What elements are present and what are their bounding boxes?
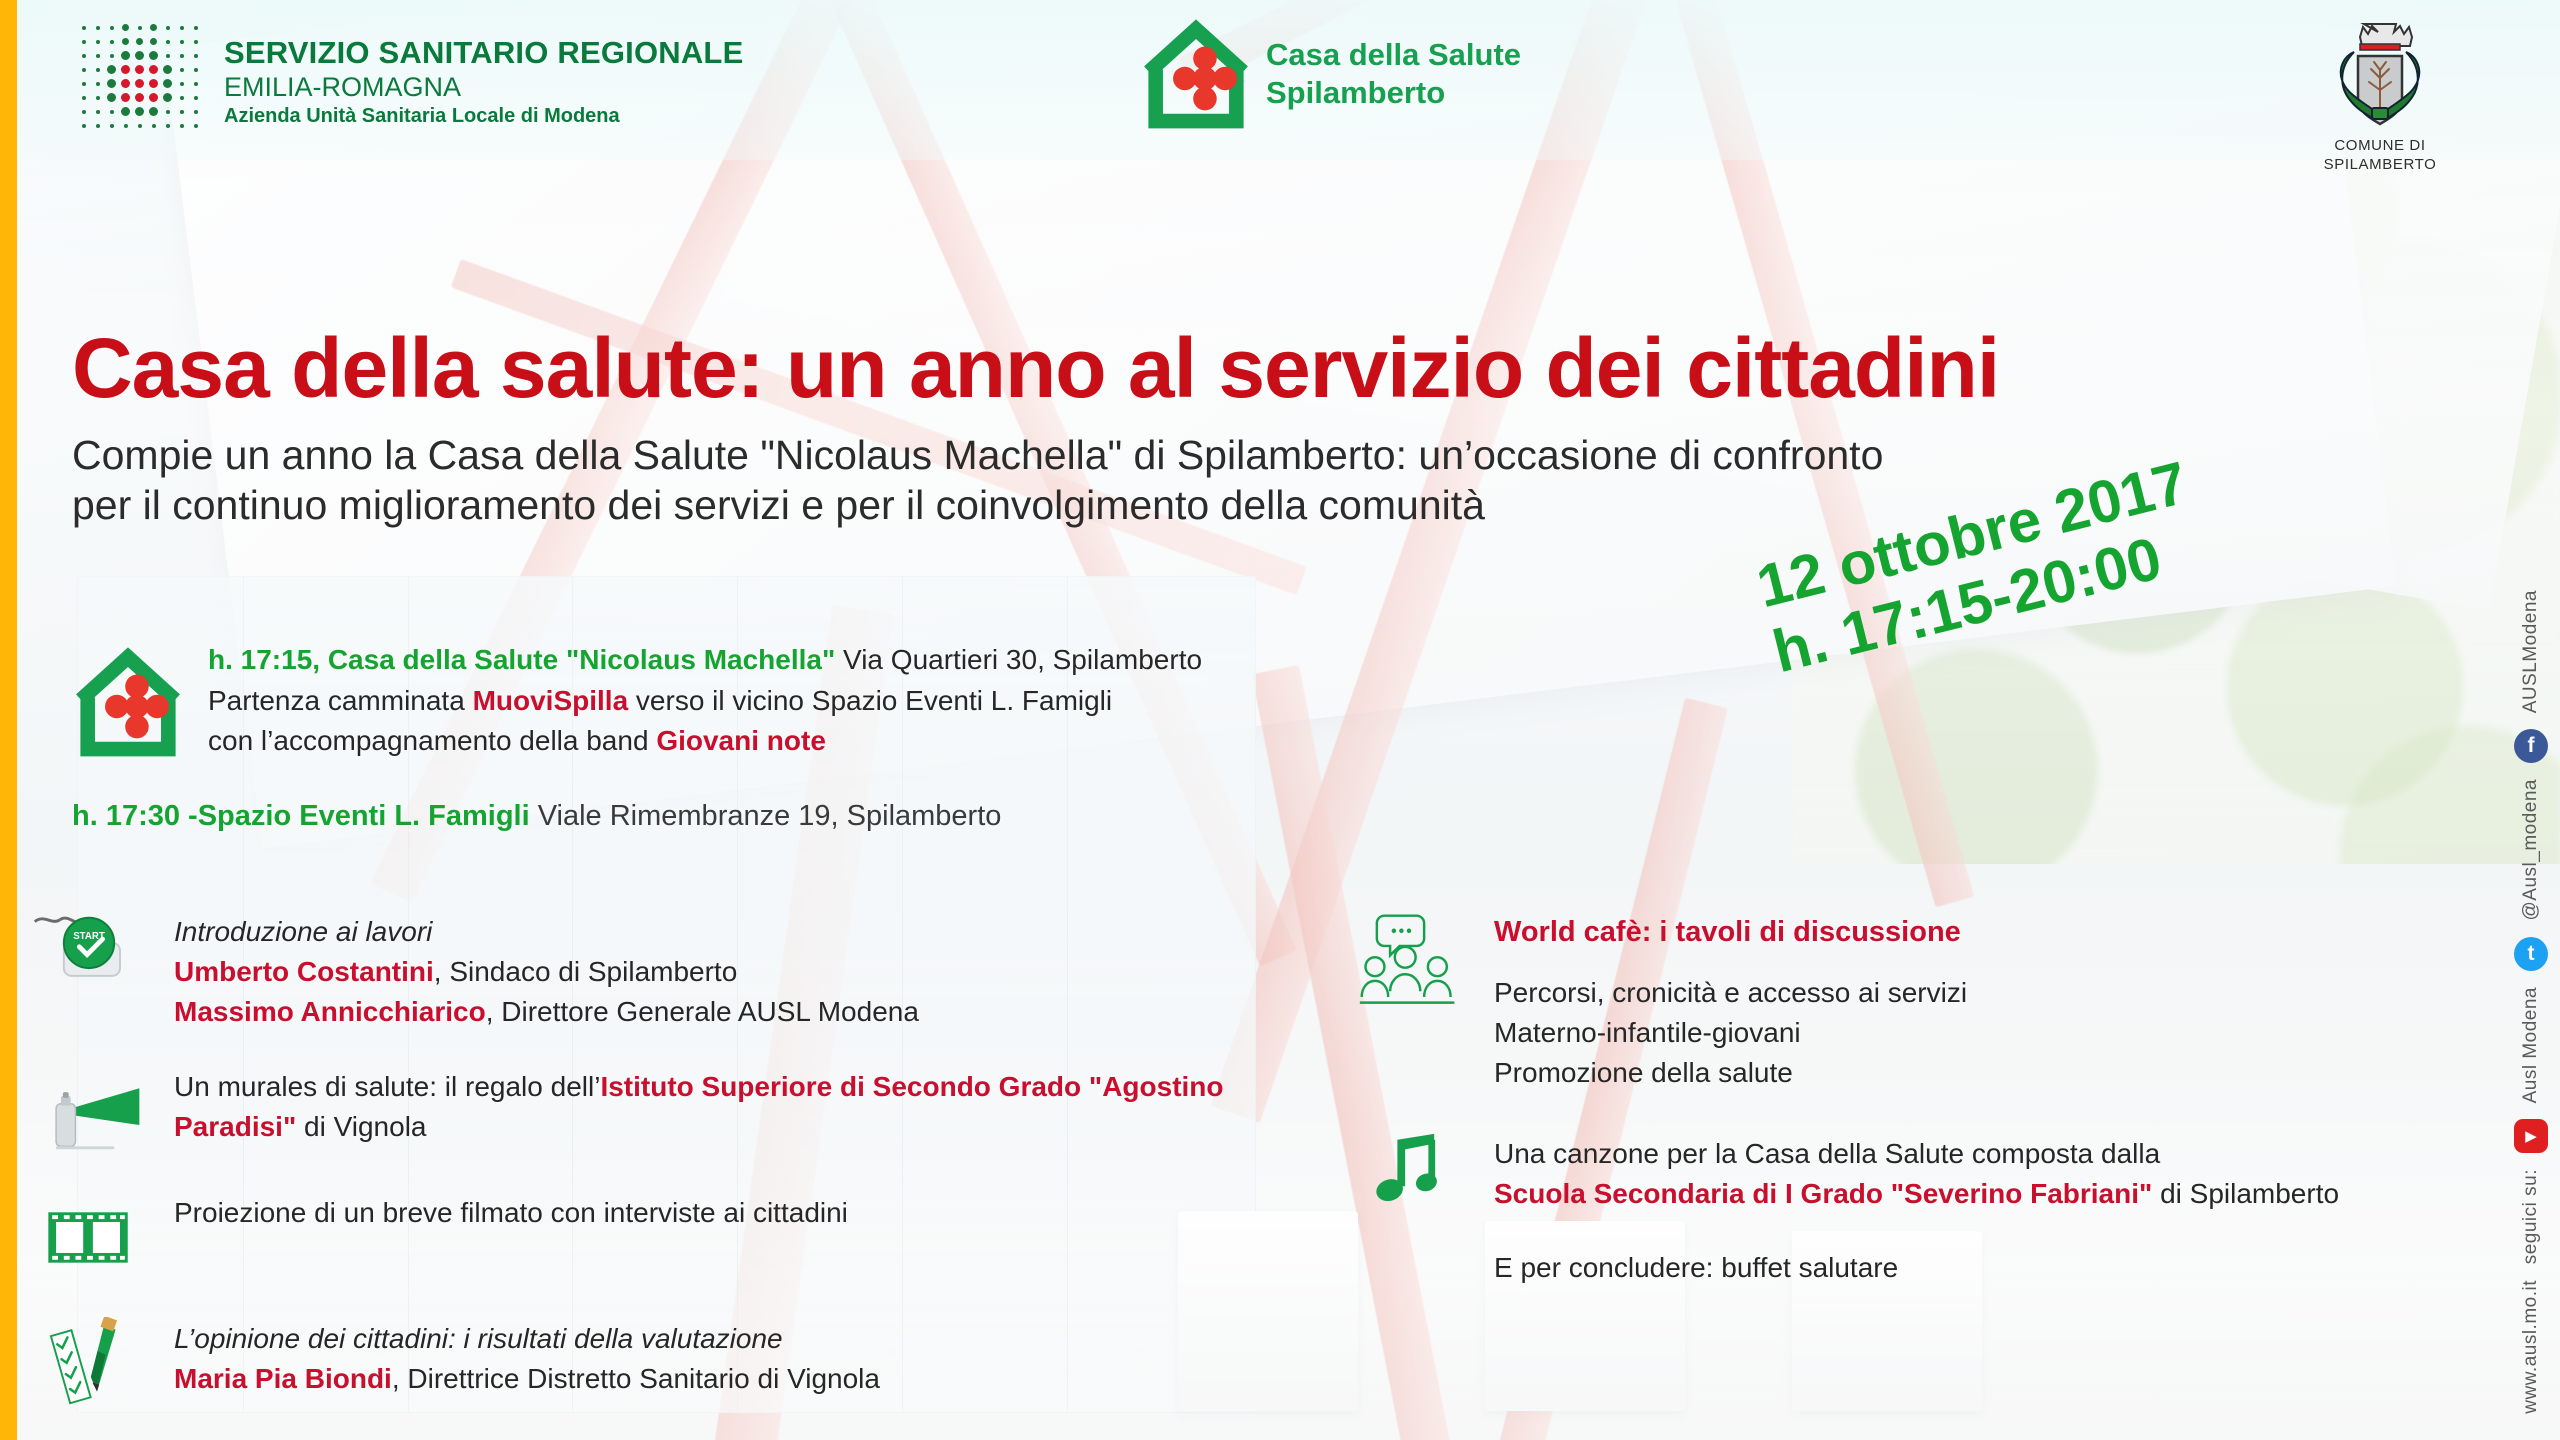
schedule-1715-address: Via Quartieri 30, Spilamberto xyxy=(835,644,1202,675)
canzone-row-2: Scuola Secondaria di I Grado "Severino F… xyxy=(1494,1174,2339,1214)
subtitle-line-1: Compie un anno la Casa della Salute "Nic… xyxy=(72,430,2252,480)
valutazione-speaker-name: Maria Pia Biondi xyxy=(174,1363,392,1394)
twitter-icon[interactable]: t xyxy=(2514,937,2548,971)
discussion-group-icon xyxy=(1350,910,1468,1002)
band-text-a: con l’accompagnamento della band xyxy=(208,725,656,756)
canzone-text-b: di Spilamberto xyxy=(2152,1178,2339,1209)
youtube-icon[interactable]: ▶ xyxy=(2514,1119,2548,1153)
murales-text-b: di Vignola xyxy=(296,1111,426,1142)
schedule-1715-venue: h. 17:15, Casa della Salute "Nicolaus Ma… xyxy=(208,644,835,675)
muovispilla-label: MuoviSpilla xyxy=(473,685,629,716)
green-house-red-dots-icon xyxy=(72,646,184,758)
facebook-icon[interactable]: f xyxy=(2514,729,2548,763)
band-name: Giovani note xyxy=(656,725,826,756)
website-url[interactable]: www.ausl.mo.it xyxy=(2520,1280,2542,1414)
comune-name-line2: SPILAMBERTO xyxy=(2280,156,2480,175)
schedule-1730-venue: h. 17:30 -Spazio Eventi L. Famigli xyxy=(72,800,530,832)
valutazione-label: L’opinione dei cittadini: i risultati de… xyxy=(174,1319,880,1359)
closing-text: E per concludere: buffet salutare xyxy=(1494,1248,2339,1288)
ausl-logo-line3: Azienda Unità Sanitaria Locale di Modena xyxy=(224,103,743,129)
coat-of-arms-icon xyxy=(2320,8,2440,128)
comune-name-line1: COMUNE DI xyxy=(2280,137,2480,156)
murales-text-a: Un murales di salute: il regalo dell’ xyxy=(174,1071,600,1102)
walk-text-a: Partenza camminata xyxy=(208,685,473,716)
youtube-label[interactable]: Ausl Modena xyxy=(2520,987,2542,1103)
program-item-world-cafe: World cafè: i tavoli di discussione Perc… xyxy=(1350,910,2530,1092)
facebook-label[interactable]: AUSLModena xyxy=(2520,590,2542,713)
twitter-label[interactable]: @Ausl_modena xyxy=(2520,779,2542,920)
casa-della-salute-logo: Casa della Salute Spilamberto xyxy=(1140,18,1521,130)
speaker-row-1: Umberto Costantini, Sindaco di Spilamber… xyxy=(174,952,919,992)
valutazione-speaker-row: Maria Pia Biondi, Direttrice Distretto S… xyxy=(174,1359,880,1399)
left-accent-rule xyxy=(0,0,17,1440)
speaker-role-2: , Direttore Generale AUSL Modena xyxy=(486,996,919,1027)
page-title: Casa della salute: un anno al servizio d… xyxy=(72,320,1999,417)
dot-grid-logo-icon xyxy=(78,22,206,142)
program-item-proiezione: Proiezione di un breve filmato con inter… xyxy=(30,1191,1260,1283)
schedule-1730-address: Viale Rimembranze 19, Spilamberto xyxy=(530,800,1002,832)
speaker-row-2: Massimo Annicchiarico, Direttore General… xyxy=(174,992,919,1032)
schedule-1715-row1: h. 17:15, Casa della Salute "Nicolaus Ma… xyxy=(208,640,1202,681)
program-item-valutazione: L’opinione dei cittadini: i risultati de… xyxy=(30,1317,1260,1409)
schedule-block-1715: h. 17:15, Casa della Salute "Nicolaus Ma… xyxy=(72,640,1202,762)
music-note-icon xyxy=(1350,1132,1468,1224)
film-strip-icon xyxy=(30,1191,148,1283)
program-right-column: World cafè: i tavoli di discussione Perc… xyxy=(1350,910,2530,1328)
header: SERVIZIO SANITARIO REGIONALE EMILIA-ROMA… xyxy=(0,0,2560,175)
walk-text-b: verso il vicino Spazio Eventi L. Famigli xyxy=(628,685,1112,716)
world-cafe-topic: Promozione della salute xyxy=(1494,1053,1967,1093)
world-cafe-title: World cafè: i tavoli di discussione xyxy=(1494,912,1967,953)
start-button-icon: START xyxy=(30,910,148,1002)
ausl-logo: SERVIZIO SANITARIO REGIONALE EMILIA-ROMA… xyxy=(78,22,743,142)
program-left-column: START Introduzione ai lavori Umberto Cos… xyxy=(30,910,1260,1440)
comune-logo: COMUNE DI SPILAMBERTO xyxy=(2280,8,2480,175)
follow-us-label: seguici su: xyxy=(2520,1169,2542,1264)
speaker-name-2: Massimo Annicchiarico xyxy=(174,996,486,1027)
schedule-line-1730: h. 17:30 -Spazio Eventi L. Famigli Viale… xyxy=(72,800,1001,833)
schedule-1715-row2: Partenza camminata MuoviSpilla verso il … xyxy=(208,681,1202,722)
spray-can-icon xyxy=(30,1065,148,1157)
canzone-text-a: Una canzone per la Casa della Salute com… xyxy=(1494,1134,2339,1174)
proiezione-text: Proiezione di un breve filmato con inter… xyxy=(174,1191,848,1233)
canzone-school: Scuola Secondaria di I Grado "Severino F… xyxy=(1494,1178,2152,1209)
murales-text: Un murales di salute: il regalo dell’Ist… xyxy=(174,1065,1260,1147)
valutazione-speaker-role: , Direttrice Distretto Sanitario di Vign… xyxy=(392,1363,880,1394)
schedule-1715-row3: con l’accompagnamento della band Giovani… xyxy=(208,721,1202,762)
green-house-red-dots-icon xyxy=(1140,18,1252,130)
program-item-canzone: Una canzone per la Casa della Salute com… xyxy=(1350,1132,2530,1287)
introduzione-label: Introduzione ai lavori xyxy=(174,912,919,952)
program-item-murales: Un murales di salute: il regalo dell’Ist… xyxy=(30,1065,1260,1157)
speaker-role-1: , Sindaco di Spilamberto xyxy=(434,956,738,987)
social-sidebar: www.ausl.mo.it seguici su: ▶ Ausl Modena… xyxy=(2502,0,2560,1440)
casa-salute-line2: Spilamberto xyxy=(1266,74,1521,112)
casa-salute-line1: Casa della Salute xyxy=(1266,36,1521,74)
world-cafe-topic: Percorsi, cronicità e accesso ai servizi xyxy=(1494,973,1967,1013)
speaker-name-1: Umberto Costantini xyxy=(174,956,434,987)
checklist-pencil-icon xyxy=(30,1317,148,1409)
ausl-logo-line1: SERVIZIO SANITARIO REGIONALE xyxy=(224,35,743,71)
ausl-logo-line2: EMILIA-ROMAGNA xyxy=(224,71,743,103)
world-cafe-topic: Materno-infantile-giovani xyxy=(1494,1013,1967,1053)
program-item-introduzione: START Introduzione ai lavori Umberto Cos… xyxy=(30,910,1260,1031)
poster-root: SERVIZIO SANITARIO REGIONALE EMILIA-ROMA… xyxy=(0,0,2560,1440)
